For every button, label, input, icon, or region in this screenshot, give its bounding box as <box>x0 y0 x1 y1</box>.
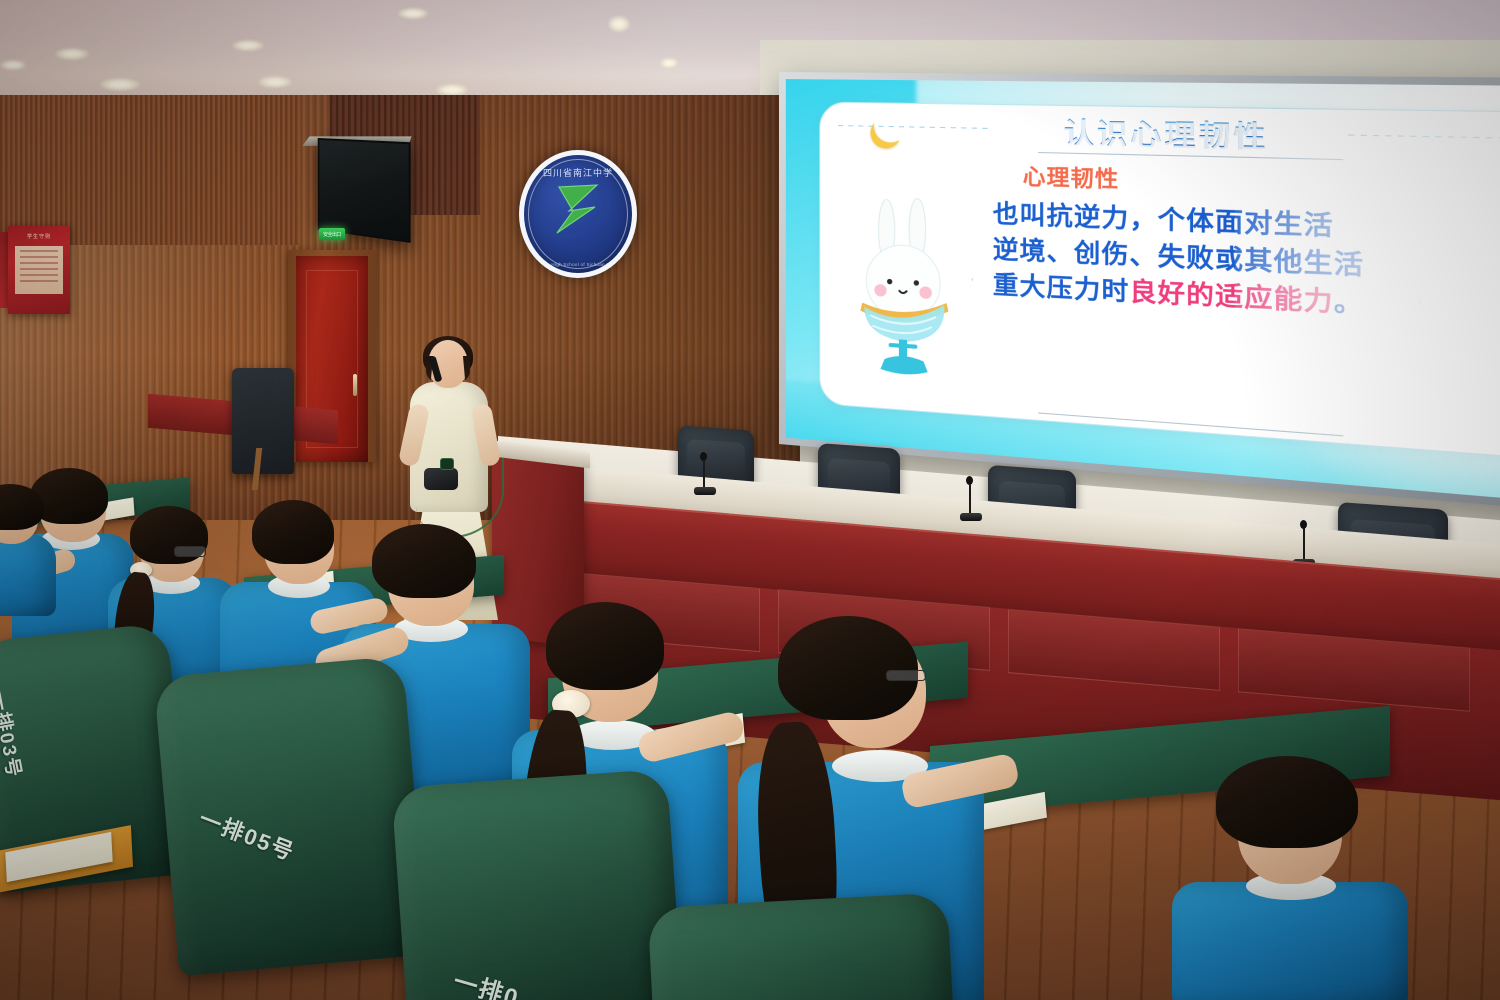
slide-card: 认识心理韧性 <box>819 102 1500 462</box>
slide-title: 认识心理韧性 <box>820 107 1500 163</box>
poster-sheet <box>15 246 63 294</box>
emblem-mark-icon <box>549 177 607 237</box>
eyeglasses <box>174 546 206 557</box>
student-hair <box>372 524 476 598</box>
downlight <box>608 16 630 32</box>
student <box>1160 756 1420 1000</box>
exit-sign-label: 安全出口 <box>323 231 341 238</box>
downlight <box>0 60 26 70</box>
downlight <box>398 8 428 19</box>
seat-cover <box>647 892 956 1000</box>
eyeglasses <box>886 670 926 681</box>
student-hair <box>252 500 334 564</box>
seat-label: 一排0 <box>450 962 524 1000</box>
student-hair <box>1216 756 1358 848</box>
student-hair <box>546 602 664 690</box>
slide-body-line-3-suffix: 。 <box>1334 287 1365 319</box>
reeded-wall-panel <box>0 95 300 245</box>
downlight <box>55 48 89 60</box>
side-chair <box>232 368 294 474</box>
emblem-english-text: Nanjiang High School of Sichuan Province <box>524 262 632 267</box>
wall-poster-title: 学生守则 <box>8 233 70 240</box>
slide-keyword-heading: 心理韧性 <box>1023 160 1120 195</box>
seat-row1-05: 一排05号 <box>153 656 428 977</box>
slide-body-text: 也叫抗逆力，个体面对生活 逆境、创伤、失败或其他生活 重大压力时良好的适应能力。 <box>993 197 1415 327</box>
downlight <box>258 76 292 88</box>
bunny-in-cup-icon <box>844 182 967 383</box>
door-handle[interactable] <box>353 374 357 396</box>
seat-label: 一排03号 <box>0 689 29 781</box>
slide-body-highlight: 良好的适应能力 <box>1129 278 1333 318</box>
student-hair <box>778 616 918 720</box>
seat-label: 一排05号 <box>195 801 300 867</box>
presentation-slide: 认识心理韧性 <box>786 79 1500 505</box>
student <box>0 486 58 616</box>
student-uniform <box>0 534 56 616</box>
student-hair <box>0 484 44 530</box>
exit-sign: 安全出口 <box>319 228 345 240</box>
slide-body-line-3-prefix: 重大压力时 <box>993 271 1130 306</box>
school-emblem: 四川省南江中学 Nanjiang High School of Sichuan … <box>519 150 637 278</box>
downlight <box>100 78 140 91</box>
seat-row1-partial: 一排0 <box>391 769 684 1000</box>
downlight <box>660 58 678 68</box>
wall-poster: 学生守则 <box>8 226 70 314</box>
downlight <box>232 40 264 51</box>
auditorium-photo: 学生守则 安全出口 四川省南江中学 Nanjiang High School o… <box>0 0 1500 1000</box>
